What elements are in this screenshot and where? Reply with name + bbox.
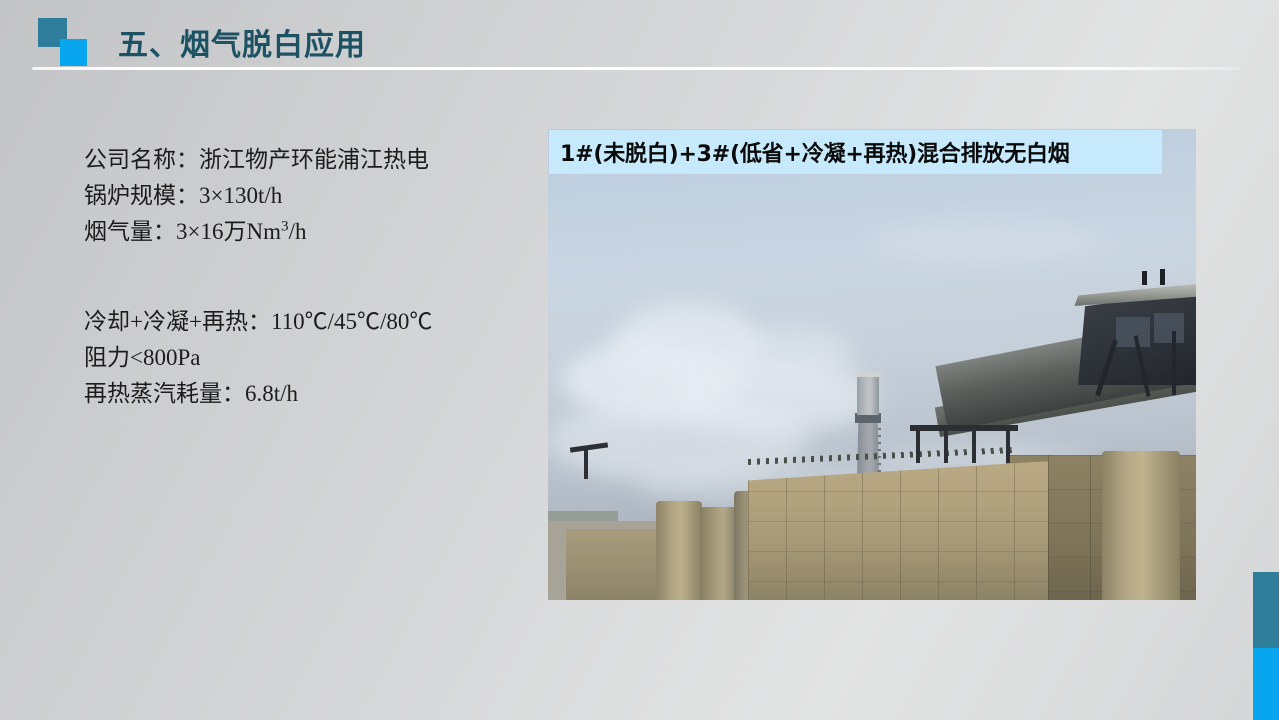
photo-gantry-leg: [916, 429, 920, 463]
photo-cloud: [866, 221, 1106, 261]
photo-gantry: [910, 425, 1018, 461]
photo-small-rig: [584, 447, 588, 479]
flue-gas-superscript: 3: [281, 217, 289, 234]
text-line-boiler-scale: 锅炉规模：3×130t/h: [84, 178, 514, 214]
photo-gantry-leg: [1006, 429, 1010, 463]
photo-caption-text: 1#(未脱白)+3#(低省+冷凝+再热)混合排放无白烟: [560, 136, 1070, 168]
photo-main-building-panels: [748, 461, 1048, 600]
photo-gantry-leg: [944, 429, 948, 463]
header-square-blue-icon: [60, 39, 87, 66]
text-line-resistance: 阻力<800Pa: [84, 340, 514, 376]
flue-gas-prefix: 烟气量：3×16万Nm: [84, 219, 281, 244]
photo-caption-banner: 1#(未脱白)+3#(低省+冷凝+再热)混合排放无白烟: [549, 130, 1162, 174]
paragraph-spacer: [84, 250, 514, 304]
header-divider: [32, 67, 1240, 70]
flue-gas-suffix: /h: [289, 219, 307, 244]
photo-silo-large: [1102, 451, 1180, 600]
photo-steel-window: [1116, 317, 1150, 347]
content-text-block: 公司名称：浙江物产环能浦江热电 锅炉规模：3×130t/h 烟气量：3×16万N…: [84, 142, 514, 412]
photo-chimney-cap: [857, 375, 879, 415]
photo-roof-antenna: [1160, 269, 1165, 285]
site-photo: [548, 129, 1196, 600]
photo-chimney-rim: [855, 372, 881, 377]
photo-steel-window: [1154, 313, 1184, 343]
photo-steel-brace: [1172, 331, 1176, 395]
photo-gantry-leg: [972, 429, 976, 463]
corner-accent-blue: [1253, 648, 1279, 720]
page-title: 五、烟气脱白应用: [118, 20, 366, 64]
text-line-reheat-steam: 再热蒸汽耗量：6.8t/h: [84, 376, 514, 412]
photo-roof-antenna: [1142, 271, 1147, 285]
photo-silo: [656, 501, 702, 600]
corner-accent-teal: [1253, 572, 1279, 648]
text-line-company-name: 公司名称：浙江物产环能浦江热电: [84, 142, 514, 178]
paragraph-plant-info: 公司名称：浙江物产环能浦江热电 锅炉规模：3×130t/h 烟气量：3×16万N…: [84, 142, 514, 250]
photo-cloud: [734, 325, 854, 385]
slide: 五、烟气脱白应用 公司名称：浙江物产环能浦江热电 锅炉规模：3×130t/h 烟…: [0, 0, 1279, 720]
text-line-temperature-stages: 冷却+冷凝+再热：110℃/45℃/80℃: [84, 304, 514, 340]
paragraph-process-params: 冷却+冷凝+再热：110℃/45℃/80℃ 阻力<800Pa 再热蒸汽耗量：6.…: [84, 304, 514, 412]
photo-gantry-beam: [910, 425, 1018, 431]
text-line-flue-gas-volume: 烟气量：3×16万Nm3/h: [84, 214, 514, 250]
